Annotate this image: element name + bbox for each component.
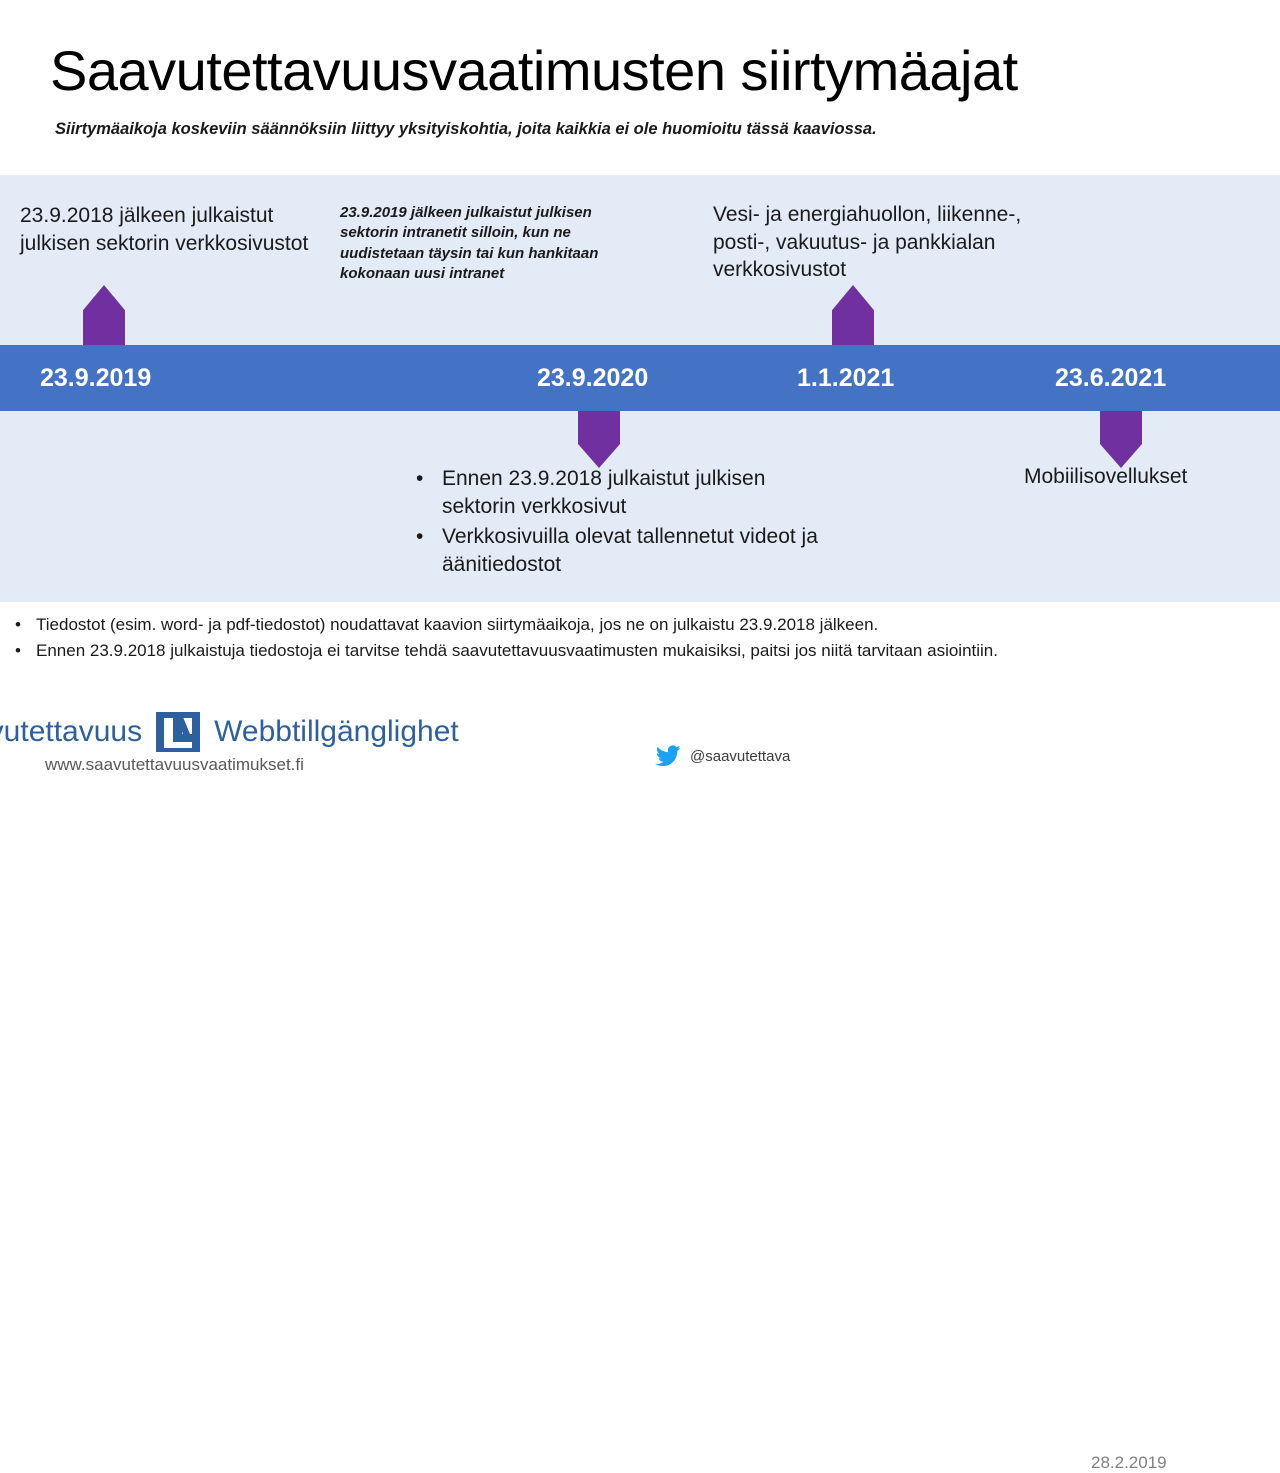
callout-vesi-energia: Vesi- ja energiahuollon, liikenne-, post… xyxy=(713,201,1053,284)
brand-name-sv: Webbtillgänglighet xyxy=(214,715,459,749)
callout-below-2020-list: • Ennen 23.9.2018 julkaistut julkisen se… xyxy=(408,465,838,582)
page-title: Saavutettavuusvaatimusten siirtymäajat xyxy=(50,42,1018,101)
bullet-icon: • xyxy=(0,638,36,664)
milestone-date-2019: 23.9.2019 xyxy=(40,345,151,411)
footer: avutettavuus Webbtillgänglighet www.saav… xyxy=(0,700,1280,800)
arrow-up-icon-2021-01 xyxy=(832,285,874,345)
list-item: • Verkkosivuilla olevat tallennetut vide… xyxy=(408,523,838,579)
twitter-account[interactable]: @saavutettava xyxy=(655,745,790,767)
milestone-date-2020: 23.9.2020 xyxy=(537,345,648,411)
brand-url[interactable]: www.saavutettavuusvaatimukset.fi xyxy=(45,755,304,775)
footnote-item: • Tiedostot (esim. word- ja pdf-tiedosto… xyxy=(0,612,1280,638)
page-subtitle: Siirtymäaikoja koskeviin säännöksiin lii… xyxy=(55,120,877,139)
footnote-label: Ennen 23.9.2018 julkaistuja tiedostoja e… xyxy=(36,638,998,664)
list-item: • Ennen 23.9.2018 julkaistut julkisen se… xyxy=(408,465,838,521)
bullet-icon: • xyxy=(408,465,442,493)
callout-intranetit-2019: 23.9.2019 jälkeen julkaistut julkisen se… xyxy=(340,203,630,284)
footnotes: • Tiedostot (esim. word- ja pdf-tiedosto… xyxy=(0,612,1280,665)
header: Saavutettavuusvaatimusten siirtymäajat S… xyxy=(0,0,1280,175)
callout-verkkosivustot-2018: 23.9.2018 jälkeen julkaistut julkisen se… xyxy=(20,202,330,257)
date-stamp: 28.2.2019 xyxy=(1091,1453,1167,1473)
twitter-icon xyxy=(655,745,681,767)
twitter-handle: @saavutettava xyxy=(690,748,790,765)
list-item-label: Verkkosivuilla olevat tallennetut videot… xyxy=(442,523,838,579)
milestone-date-2021-06: 23.6.2021 xyxy=(1055,345,1166,411)
arrow-down-icon-2021-06 xyxy=(1100,411,1142,468)
arrow-up-icon-2019 xyxy=(83,285,125,345)
timeline-panel: 23.9.2018 jälkeen julkaistut julkisen se… xyxy=(0,175,1280,602)
milestone-date-2021-01: 1.1.2021 xyxy=(797,345,894,411)
brand-name-fi: avutettavuus xyxy=(0,715,142,749)
accessibility-logo-icon xyxy=(156,712,200,752)
list-item-label: Ennen 23.9.2018 julkaistut julkisen sekt… xyxy=(442,465,838,521)
bullet-icon: • xyxy=(408,523,442,551)
timeline-bar: 23.9.2019 23.9.2020 1.1.2021 23.6.2021 xyxy=(0,345,1280,411)
brand-lockup: avutettavuus Webbtillgänglighet xyxy=(0,712,459,752)
footnote-label: Tiedostot (esim. word- ja pdf-tiedostot)… xyxy=(36,612,878,638)
callout-mobiilisovellukset: Mobiilisovellukset xyxy=(1024,465,1187,489)
bullet-icon: • xyxy=(0,612,36,638)
footnote-item: • Ennen 23.9.2018 julkaistuja tiedostoja… xyxy=(0,638,1280,664)
arrow-down-icon-2020 xyxy=(578,411,620,468)
